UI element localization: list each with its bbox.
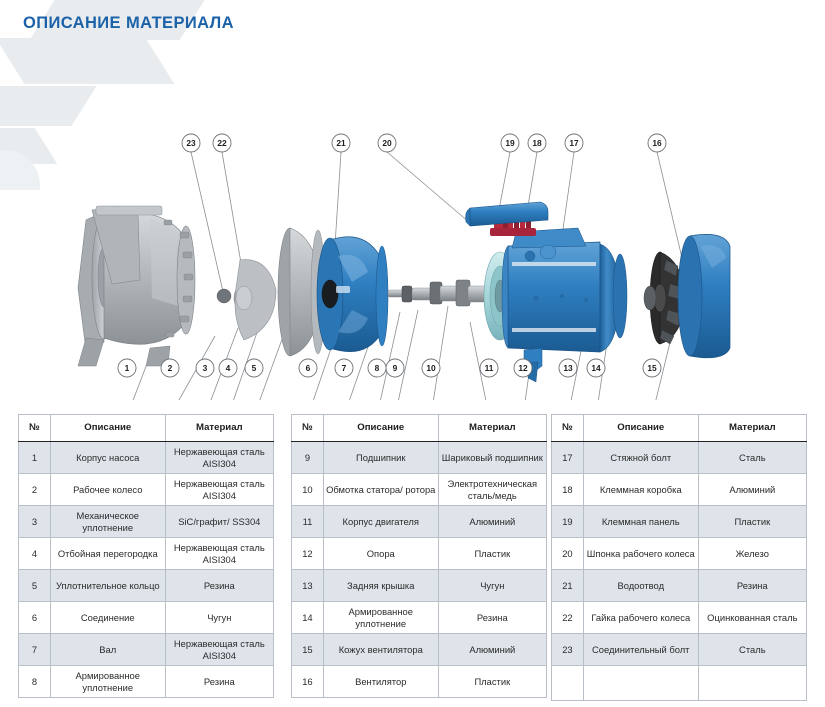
cell-material: Резина (438, 602, 546, 634)
cell-material: Пластик (438, 538, 546, 570)
cell-description: Задняя крышка (323, 570, 438, 602)
cell-description: Рабочее колесо (50, 474, 165, 506)
column-header-number: № (292, 415, 324, 442)
table-row: 14Армированное уплотнениеРезина (292, 602, 547, 634)
cell-material: Резина (165, 666, 273, 698)
cell-material: Электротехническая сталь/медь (438, 474, 546, 506)
table-row: 1Корпус насосаНержавеющая сталь AISI304 (19, 442, 274, 474)
callout-8: 8 (375, 363, 380, 373)
callout-4: 4 (226, 363, 231, 373)
cell-description: Стяжной болт (583, 442, 698, 474)
table-row: 21ВодоотводРезина (552, 570, 807, 602)
cell-description: Армированное уплотнение (50, 666, 165, 698)
exploded-assembly-diagram: 23 22 21 20 19 18 17 16 1 2 3 4 5 6 7 8 … (0, 60, 825, 400)
material-table-3: № Описание Материал 17Стяжной болтСталь … (551, 414, 807, 701)
table-row: 11Корпус двигателяАлюминий (292, 506, 547, 538)
cell-number: 6 (19, 602, 51, 634)
cell-description: Кожух вентилятора (323, 634, 438, 666)
cell-material: Алюминий (698, 474, 806, 506)
callout-14: 14 (591, 363, 601, 373)
cell-material: Сталь (698, 634, 806, 666)
callout-3: 3 (203, 363, 208, 373)
shaft-group (388, 280, 490, 306)
cell-description: Соединительный болт (583, 634, 698, 666)
cell-material: Нержавеющая сталь AISI304 (165, 474, 273, 506)
table-row: 9ПодшипникШариковый подшипник (292, 442, 547, 474)
cell-material: Сталь (698, 442, 806, 474)
cell-number: 5 (19, 570, 51, 602)
table-row: 2Рабочее колесоНержавеющая сталь AISI304 (19, 474, 274, 506)
cell-number: 20 (552, 538, 584, 570)
cell-material: Чугун (438, 570, 546, 602)
pump-housing-group (78, 206, 195, 366)
cell-material: Пластик (698, 506, 806, 538)
cell-number (552, 666, 584, 701)
callout-13: 13 (563, 363, 573, 373)
cell-material (698, 666, 806, 701)
table-row: 7ВалНержавеющая сталь AISI304 (19, 634, 274, 666)
cell-material: Железо (698, 538, 806, 570)
cell-number: 10 (292, 474, 324, 506)
callout-9: 9 (393, 363, 398, 373)
cell-material: Нержавеющая сталь AISI304 (165, 538, 273, 570)
cell-description (583, 666, 698, 701)
cell-description: Гайка рабочего колеса (583, 602, 698, 634)
table-row: 17Стяжной болтСталь (552, 442, 807, 474)
cell-material: Шариковый подшипник (438, 442, 546, 474)
column-header-description: Описание (323, 415, 438, 442)
cell-material: Пластик (438, 666, 546, 698)
cell-description: Шпонка рабочего колеса (583, 538, 698, 570)
cell-description: Вал (50, 634, 165, 666)
callout-11: 11 (485, 363, 494, 373)
cell-material: SiC/графит/ SS304 (165, 506, 273, 538)
cell-material: Нержавеющая сталь AISI304 (165, 634, 273, 666)
material-table-2: № Описание Материал 9ПодшипникШариковый … (291, 414, 547, 698)
callout-18: 18 (532, 138, 542, 148)
cell-description: Механическое уплотнение (50, 506, 165, 538)
cell-number: 21 (552, 570, 584, 602)
callout-20: 20 (382, 138, 392, 148)
cell-number: 15 (292, 634, 324, 666)
terminal-box-cover-group (466, 202, 549, 226)
callout-1: 1 (125, 363, 130, 373)
callout-10: 10 (426, 363, 436, 373)
table-row: 20Шпонка рабочего колесаЖелезо (552, 538, 807, 570)
callout-19: 19 (505, 138, 515, 148)
cell-description: Подшипник (323, 442, 438, 474)
cell-material: Резина (165, 570, 273, 602)
callout-23: 23 (186, 138, 196, 148)
cell-description: Вентилятор (323, 666, 438, 698)
cell-description: Обмотка статора/ ротора (323, 474, 438, 506)
cell-description: Уплотнительное кольцо (50, 570, 165, 602)
cell-description: Отбойная перегородка (50, 538, 165, 570)
column-header-number: № (552, 415, 584, 442)
callout-2: 2 (168, 363, 173, 373)
cell-number: 11 (292, 506, 324, 538)
callout-16: 16 (652, 138, 662, 148)
table-row: 5Уплотнительное кольцоРезина (19, 570, 274, 602)
cell-description: Клеммная панель (583, 506, 698, 538)
cell-description: Опора (323, 538, 438, 570)
callout-7: 7 (342, 363, 347, 373)
cell-description: Корпус двигателя (323, 506, 438, 538)
column-header-number: № (19, 415, 51, 442)
callout-5: 5 (252, 363, 257, 373)
cell-material: Алюминий (438, 506, 546, 538)
table-row: 23Соединительный болтСталь (552, 634, 807, 666)
impeller-group (217, 260, 276, 340)
cell-number: 7 (19, 634, 51, 666)
table-header-row: № Описание Материал (19, 415, 274, 442)
column-header-material: Материал (438, 415, 546, 442)
cell-description: Соединение (50, 602, 165, 634)
cell-number: 18 (552, 474, 584, 506)
cell-description: Корпус насоса (50, 442, 165, 474)
table-row: 22Гайка рабочего колесаОцинкованная стал… (552, 602, 807, 634)
table-row: 13Задняя крышкаЧугун (292, 570, 547, 602)
table-row-empty (552, 666, 807, 701)
cell-number: 1 (19, 442, 51, 474)
table-row: 4Отбойная перегородкаНержавеющая сталь A… (19, 538, 274, 570)
table-row: 10Обмотка статора/ ротораЭлектротехничес… (292, 474, 547, 506)
cell-number: 22 (552, 602, 584, 634)
cell-number: 14 (292, 602, 324, 634)
cell-number: 3 (19, 506, 51, 538)
connection-housing-group (317, 237, 388, 352)
table-row: 6СоединениеЧугун (19, 602, 274, 634)
callout-6: 6 (306, 363, 311, 373)
material-table-1: № Описание Материал 1Корпус насосаНержав… (18, 414, 274, 698)
table-row: 12ОпораПластик (292, 538, 547, 570)
table-row: 18Клеммная коробкаАлюминий (552, 474, 807, 506)
table-row: 8Армированное уплотнениеРезина (19, 666, 274, 698)
table-row: 3Механическое уплотнениеSiC/графит/ SS30… (19, 506, 274, 538)
page-title: ОПИСАНИЕ МАТЕРИАЛА (23, 14, 234, 33)
column-header-description: Описание (50, 415, 165, 442)
table-header-row: № Описание Материал (292, 415, 547, 442)
cell-material: Алюминий (438, 634, 546, 666)
callout-15: 15 (647, 363, 657, 373)
table-row: 15Кожух вентилятораАлюминий (292, 634, 547, 666)
cell-description: Клеммная коробка (583, 474, 698, 506)
cell-number: 12 (292, 538, 324, 570)
column-header-material: Материал (698, 415, 806, 442)
cell-number: 16 (292, 666, 324, 698)
callout-21: 21 (336, 138, 346, 148)
cell-material: Оцинкованная сталь (698, 602, 806, 634)
cell-number: 13 (292, 570, 324, 602)
cell-number: 9 (292, 442, 324, 474)
callout-12: 12 (518, 363, 528, 373)
table-row: 16ВентиляторПластик (292, 666, 547, 698)
cell-number: 17 (552, 442, 584, 474)
cell-material: Чугун (165, 602, 273, 634)
cell-material: Резина (698, 570, 806, 602)
column-header-material: Материал (165, 415, 273, 442)
cell-material: Нержавеющая сталь AISI304 (165, 442, 273, 474)
callout-22: 22 (217, 138, 227, 148)
material-tables: № Описание Материал 1Корпус насосаНержав… (0, 414, 825, 694)
column-header-description: Описание (583, 415, 698, 442)
cell-number: 2 (19, 474, 51, 506)
table-row: 19Клеммная панельПластик (552, 506, 807, 538)
cell-number: 4 (19, 538, 51, 570)
callout-17: 17 (569, 138, 579, 148)
cell-description: Армированное уплотнение (323, 602, 438, 634)
fan-cowl-group (678, 234, 730, 357)
table-header-row: № Описание Материал (552, 415, 807, 442)
cell-number: 8 (19, 666, 51, 698)
cell-description: Водоотвод (583, 570, 698, 602)
cell-number: 23 (552, 634, 584, 666)
cell-number: 19 (552, 506, 584, 538)
